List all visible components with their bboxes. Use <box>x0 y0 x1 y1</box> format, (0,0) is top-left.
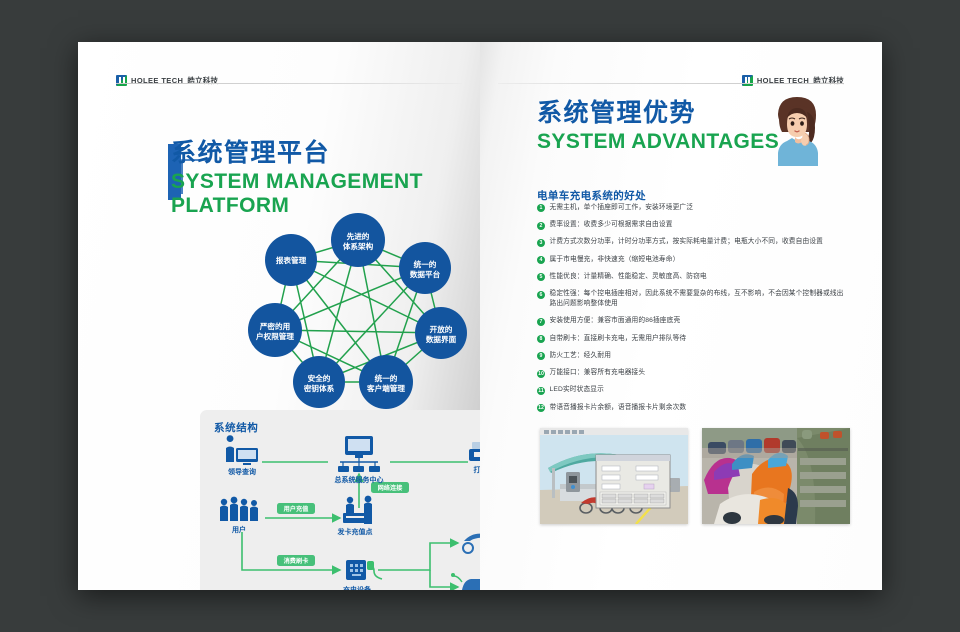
system-structure-diagram: 网络连接 用户充值 消费刷卡 领导查询 总系统服务中心 打印机 用户 <box>200 410 480 590</box>
bullet-number-badge: 12 <box>537 404 545 412</box>
advantages-bullet-list: 1无需主机，单个插座即可工作，安装环境更广泛2费率设置：收费多少可根据需求自由设… <box>537 203 849 420</box>
header-divider-right <box>498 83 844 84</box>
network-node-label: 开放的 <box>430 324 453 334</box>
right-page-header: HOLEE TECH 皓立科技 <box>502 72 844 88</box>
flow-label-recharge-text: 用户充值 <box>283 505 310 513</box>
network-node-label: 先进的 <box>347 231 370 241</box>
bullet-text: 带语音播报卡片余额，语音播报卡片剩余次数 <box>550 403 687 413</box>
advantage-bullet: 1无需主机，单个插座即可工作，安装环境更广泛 <box>537 203 849 213</box>
advantages-section-heading: 电单车充电系统的好处 <box>537 188 646 203</box>
network-node-label: 统一的 <box>375 373 398 383</box>
customer-service-avatar-icon <box>765 88 829 166</box>
page-title-cn-right: 系统管理优势 <box>537 100 779 128</box>
right-page-title-block: 系统管理优势 SYSTEM ADVANTAGES <box>537 100 779 154</box>
advantage-bullet: 4属于市电慢充，非快速充（缩短电池寿命） <box>537 255 849 265</box>
network-node-label: 严密的用 <box>259 321 290 331</box>
bullet-number-badge: 6 <box>537 291 545 299</box>
advantage-bullet: 2费率设置：收费多少可根据需求自由设置 <box>537 220 849 230</box>
server-network-icon <box>338 436 380 472</box>
network-node-label: 户权限管理 <box>256 331 294 341</box>
people-group-icon <box>220 497 258 521</box>
network-node-n5[interactable]: 安全的密钥体系 <box>293 356 345 408</box>
charging-shelter-3d-render-photo <box>540 428 688 524</box>
bullet-number-badge: 11 <box>537 387 545 395</box>
advantage-bullet: 11LED实时状态显示 <box>537 385 849 395</box>
sys-label-users: 用户 <box>232 525 246 534</box>
advantage-bullet: 7安装使用方便：兼容市面通用的86插座底壳 <box>537 316 849 326</box>
network-node-label: 体系架构 <box>343 241 374 251</box>
flow-label-swipe: 消费刷卡 <box>277 555 315 566</box>
service-counter-icon <box>343 496 372 524</box>
network-node-label: 密钥体系 <box>303 383 335 393</box>
network-node-n3[interactable]: 开放的数据界面 <box>415 307 467 359</box>
bullet-text: 防火工艺：经久耐用 <box>550 351 612 361</box>
advantage-bullet: 8自带刷卡：直接刷卡充电，无需用户排队等待 <box>537 334 849 344</box>
bullet-text: 计费方式次数分功率，计时分功率方式，按实际耗电量计费；电瓶大小不同，收费自由设置 <box>550 237 824 247</box>
bullet-text: LED实时状态显示 <box>550 385 604 395</box>
printer-icon <box>469 442 480 461</box>
sys-label-charger: 充电设备 <box>343 585 372 590</box>
parked-scooters-photo <box>702 428 850 524</box>
network-node-n6[interactable]: 严密的用户权限管理 <box>248 303 302 357</box>
system-structure-panel: 系统结构 <box>200 410 480 590</box>
advantage-bullet: 3计费方式次数分功率，计时分功率方式，按实际耗电量计费；电瓶大小不同，收费自由设… <box>537 237 849 247</box>
advantage-bullet: 9防火工艺：经久耐用 <box>537 351 849 361</box>
network-node-label: 客户端管理 <box>367 383 405 393</box>
network-node-label: 数据平台 <box>410 269 441 279</box>
bullet-text: 稳定性强：每个控电插座相对，因此系统不需要复杂的布线，互不影响，不会因某个控制器… <box>550 289 850 309</box>
bullet-number-badge: 5 <box>537 273 545 281</box>
bullet-number-badge: 2 <box>537 222 545 230</box>
bullet-text: 属于市电慢充，非快速充（缩短电池寿命） <box>550 255 680 265</box>
advantage-bullet: 6稳定性强：每个控电插座相对，因此系统不需要复杂的布线，互不影响，不会因某个控制… <box>537 289 849 309</box>
network-node-n2[interactable]: 统一的数据平台 <box>399 242 451 294</box>
person-monitor-icon <box>226 435 258 465</box>
flow-label-swipe-text: 消费刷卡 <box>284 557 310 565</box>
network-node-n7[interactable]: 报表管理 <box>265 234 317 286</box>
bullet-text: 万能接口：兼容所有充电器接头 <box>550 368 646 378</box>
sys-label-center: 总系统服务中心 <box>335 475 384 484</box>
screenshot-root: HOLEE TECH 皓立科技 系统管理平台 SYSTEM MANAGEMENT… <box>0 0 960 632</box>
network-node-label: 统一的 <box>414 259 437 269</box>
bullet-number-badge: 3 <box>537 239 545 247</box>
bullet-number-badge: 9 <box>537 352 545 360</box>
left-page-title-block: 系统管理平台 SYSTEM MANAGEMENT PLATFORM <box>171 140 480 218</box>
architecture-network-diagram: 先进的体系架构统一的数据平台开放的数据界面统一的客户端管理安全的密钥体系严密的用… <box>238 210 478 410</box>
network-node-n1[interactable]: 先进的体系架构 <box>331 213 385 267</box>
header-divider <box>116 83 462 84</box>
advantage-bullet: 12带语音播报卡片余额，语音播报卡片剩余次数 <box>537 403 849 413</box>
advantage-bullet: 5性能优良：计量精确、性能稳定、灵敏度高、防窃电 <box>537 272 849 282</box>
page-title-cn: 系统管理平台 <box>171 140 480 168</box>
bullet-number-badge: 1 <box>537 204 545 212</box>
bullet-number-badge: 7 <box>537 318 545 326</box>
sys-label-station: 发卡充值点 <box>337 527 373 536</box>
bullet-text: 安装使用方便：兼容市面通用的86插座底壳 <box>550 316 681 326</box>
bullet-text: 无需主机，单个插座即可工作，安装环境更广泛 <box>550 203 694 213</box>
scooter-icon <box>463 532 480 553</box>
sys-label-leader: 领导查询 <box>228 467 256 476</box>
network-node-label: 报表管理 <box>276 255 307 265</box>
network-node-label: 安全的 <box>308 373 331 383</box>
bullet-text: 费率设置：收费多少可根据需求自由设置 <box>550 220 673 230</box>
bullet-number-badge: 4 <box>537 256 545 264</box>
flow-label-network-text: 网络连接 <box>378 484 404 492</box>
left-page-header: HOLEE TECH 皓立科技 <box>116 72 458 88</box>
advantage-bullet: 10万能接口：兼容所有充电器接头 <box>537 368 849 378</box>
bullet-text: 性能优良：计量精确、性能稳定、灵敏度高、防窃电 <box>550 272 707 282</box>
photo-gallery <box>540 428 850 524</box>
bullet-number-badge: 10 <box>537 370 545 378</box>
charging-device-icon <box>346 560 382 580</box>
page-title-en-right: SYSTEM ADVANTAGES <box>537 130 779 154</box>
bullet-text: 自带刷卡：直接刷卡充电，无需用户排队等待 <box>550 334 687 344</box>
left-page: HOLEE TECH 皓立科技 系统管理平台 SYSTEM MANAGEMENT… <box>78 42 480 590</box>
bullet-number-badge: 8 <box>537 335 545 343</box>
network-node-label: 数据界面 <box>426 334 457 344</box>
flow-label-recharge: 用户充值 <box>277 503 315 514</box>
network-node-n4[interactable]: 统一的客户端管理 <box>359 355 413 409</box>
